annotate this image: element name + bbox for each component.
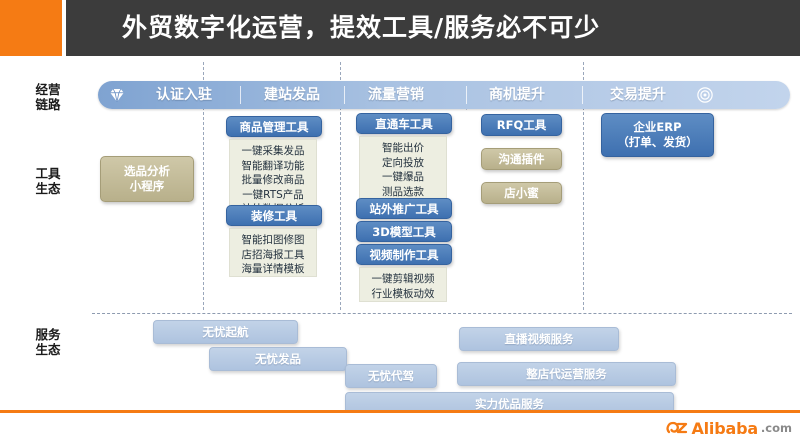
- service-zone-divider: [92, 313, 792, 314]
- tool-box-enterprise-erp-line1: 企业ERP: [633, 120, 681, 135]
- tool-list-item: 一键采集发品: [232, 144, 314, 159]
- tool-box-through-train[interactable]: 直通车工具: [356, 113, 452, 134]
- ribbon-stage-transaction[interactable]: 交易提升: [590, 81, 686, 109]
- service-bar-worry-free-listing[interactable]: 无忧发品: [209, 347, 347, 371]
- axis-label-service-ecosystem-line1: 服务: [18, 327, 78, 342]
- axis-label-tool-ecosystem-line2: 生态: [18, 181, 78, 196]
- tool-list-through-train: 智能出价 定向投放 一键爆品 测品选款: [359, 136, 447, 200]
- page-title: 外贸数字化运营，提效工具/服务必不可少: [122, 7, 600, 49]
- tool-box-3d-model[interactable]: 3D模型工具: [356, 221, 452, 242]
- tool-box-product-management[interactable]: 商品管理工具: [226, 116, 322, 137]
- tool-box-shop-assistant[interactable]: 店小蜜: [481, 182, 562, 204]
- service-bar-live-video[interactable]: 直播视频服务: [459, 327, 619, 351]
- tool-box-product-selection-miniapp[interactable]: 选品分析 小程序: [100, 156, 194, 202]
- ribbon-separator-4: [582, 86, 583, 104]
- ribbon-stage-site-build[interactable]: 建站发品: [244, 81, 340, 109]
- tool-list-item: 海量详情模板: [232, 262, 314, 277]
- tool-box-video-production[interactable]: 视频制作工具: [356, 244, 452, 265]
- tool-box-product-selection-miniapp-line2: 小程序: [130, 179, 165, 194]
- tool-box-offsite-promotion[interactable]: 站外推广工具: [356, 198, 452, 219]
- tool-list-item: 行业模板动效: [362, 287, 444, 302]
- tool-box-enterprise-erp[interactable]: 企业ERP （打单、发货）: [601, 113, 714, 157]
- tool-list-video-production: 一键剪辑视频 行业模板动效: [359, 267, 447, 302]
- target-icon: [696, 86, 714, 104]
- tool-list-item: 定向投放: [362, 156, 444, 171]
- alibaba-mark-icon: [665, 418, 691, 438]
- tool-list-item: 一键爆品: [362, 170, 444, 185]
- axis-label-service-ecosystem-line2: 生态: [18, 342, 78, 357]
- axis-label-business-chain-line2: 链路: [18, 97, 78, 112]
- tool-box-decoration[interactable]: 装修工具: [226, 205, 322, 226]
- tool-box-rfq[interactable]: RFQ工具: [481, 114, 562, 136]
- business-chain-ribbon: 认证入驻 建站发品 流量营销 商机提升 交易提升: [98, 81, 790, 109]
- tool-list-item: 一键RTS产品: [232, 188, 314, 203]
- tool-box-communication-plugin[interactable]: 沟通插件: [481, 148, 562, 170]
- header-accent-block: [0, 0, 62, 56]
- service-bar-full-shop-operation[interactable]: 整店代运营服务: [457, 362, 676, 386]
- tool-list-item: 店招海报工具: [232, 248, 314, 263]
- ribbon-separator-3: [466, 86, 467, 104]
- tool-list-item: 一键剪辑视频: [362, 272, 444, 287]
- axis-label-tool-ecosystem-line1: 工具: [18, 166, 78, 181]
- tool-list-item: 智能出价: [362, 141, 444, 156]
- tool-list-decoration: 智能扣图修图 店招海报工具 海量详情模板: [229, 228, 317, 277]
- gem-icon: [108, 86, 126, 104]
- tool-list-item: 测品选款: [362, 185, 444, 200]
- page-header: 外贸数字化运营，提效工具/服务必不可少: [0, 0, 800, 56]
- tool-list-item: 批量修改商品: [232, 173, 314, 188]
- tool-box-enterprise-erp-line2: （打单、发货）: [617, 135, 698, 150]
- ribbon-stage-traffic-marketing[interactable]: 流量营销: [348, 81, 444, 109]
- tool-list-item: 智能翻译功能: [232, 159, 314, 174]
- alibaba-domain-suffix: .com: [761, 421, 792, 435]
- ribbon-separator-1: [240, 86, 241, 104]
- axis-label-business-chain: 经营 链路: [18, 82, 78, 112]
- ribbon-stage-certification[interactable]: 认证入驻: [132, 81, 236, 109]
- axis-label-tool-ecosystem: 工具 生态: [18, 166, 78, 196]
- service-bar-worry-free-driving[interactable]: 无忧代驾: [345, 364, 437, 388]
- tool-list-item: 智能扣图修图: [232, 233, 314, 248]
- axis-label-service-ecosystem: 服务 生态: [18, 327, 78, 357]
- tool-box-product-selection-miniapp-line1: 选品分析: [124, 164, 170, 179]
- service-bar-worry-free-start[interactable]: 无忧起航: [153, 320, 298, 344]
- axis-label-business-chain-line1: 经营: [18, 82, 78, 97]
- ribbon-separator-2: [344, 86, 345, 104]
- alibaba-wordmark: Alibaba: [691, 419, 757, 438]
- ribbon-stage-opportunity[interactable]: 商机提升: [470, 81, 564, 109]
- alibaba-logo: Alibaba .com: [665, 416, 792, 440]
